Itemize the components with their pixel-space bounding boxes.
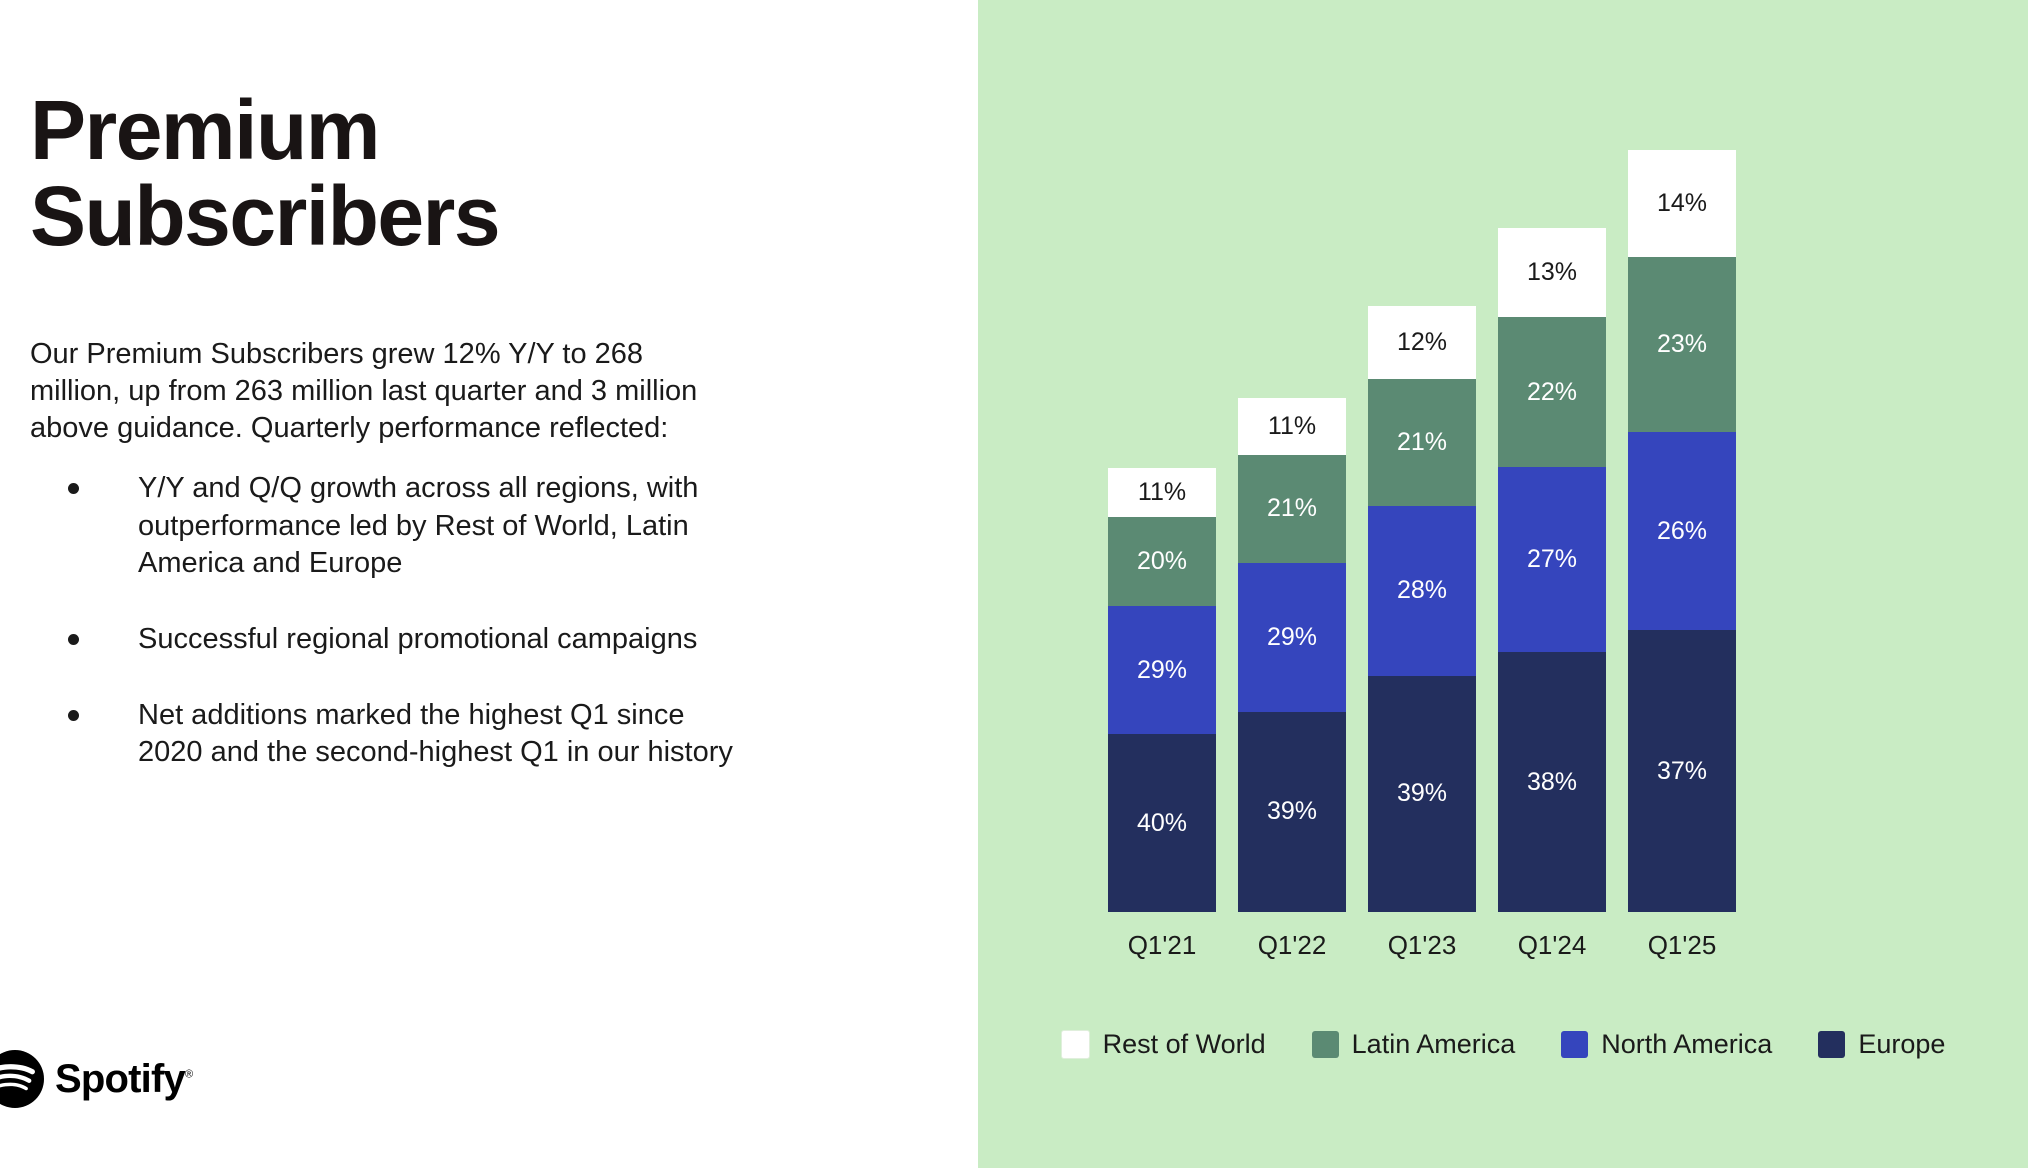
bar-segment-europe[interactable]: 39% bbox=[1238, 712, 1346, 912]
legend-swatch-icon bbox=[1061, 1030, 1090, 1059]
bar-segment-value-label: 11% bbox=[1138, 478, 1186, 507]
chart-legend: Rest of WorldLatin AmericaNorth AmericaE… bbox=[978, 1029, 2028, 1060]
bar-segment-latin-america[interactable]: 21% bbox=[1238, 455, 1346, 563]
legend-item-label: Latin America bbox=[1352, 1029, 1516, 1060]
legend-item-label: Europe bbox=[1858, 1029, 1945, 1060]
bar-segment-value-label: 27% bbox=[1527, 545, 1577, 574]
bar-segment-value-label: 40% bbox=[1137, 809, 1187, 838]
bar-segment-north-america[interactable]: 29% bbox=[1238, 563, 1346, 712]
intro-paragraph: Our Premium Subscribers grew 12% Y/Y to … bbox=[30, 336, 720, 447]
x-axis-tick-label: Q1'23 bbox=[1388, 930, 1457, 961]
page-title: Premium Subscribers bbox=[30, 88, 730, 259]
bar-segment-value-label: 39% bbox=[1267, 797, 1317, 826]
bar-group-Q122[interactable]: 11%21%29%39%Q1'22 bbox=[1238, 398, 1346, 912]
bar-segment-rest-of-world[interactable]: 11% bbox=[1108, 468, 1216, 517]
bar-segment-value-label: 29% bbox=[1267, 623, 1317, 652]
bar-segment-north-america[interactable]: 29% bbox=[1108, 606, 1216, 735]
bar-segment-latin-america[interactable]: 21% bbox=[1368, 379, 1476, 506]
left-content-panel: Premium Subscribers Our Premium Subscrib… bbox=[0, 0, 978, 1168]
spotify-wordmark: Spotify® bbox=[55, 1057, 193, 1102]
x-axis-tick-label: Q1'25 bbox=[1648, 930, 1717, 961]
list-item: Y/Y and Q/Q growth across all regions, w… bbox=[30, 470, 750, 583]
bar-segment-europe[interactable]: 39% bbox=[1368, 676, 1476, 912]
bar-segment-europe[interactable]: 38% bbox=[1498, 652, 1606, 912]
bar-segment-latin-america[interactable]: 20% bbox=[1108, 517, 1216, 606]
bar-segment-europe[interactable]: 40% bbox=[1108, 734, 1216, 912]
bar-segment-value-label: 29% bbox=[1137, 656, 1187, 685]
bar-segment-value-label: 26% bbox=[1657, 517, 1707, 546]
bar-group-Q121[interactable]: 11%20%29%40%Q1'21 bbox=[1108, 468, 1216, 912]
bar-segment-value-label: 22% bbox=[1527, 378, 1577, 407]
x-axis-tick-label: Q1'21 bbox=[1128, 930, 1197, 961]
bar-segment-value-label: 28% bbox=[1397, 576, 1447, 605]
bar-segment-rest-of-world[interactable]: 13% bbox=[1498, 228, 1606, 317]
bullet-dot-icon bbox=[68, 634, 79, 645]
spotify-logo: Spotify® bbox=[0, 1050, 193, 1108]
legend-swatch-icon bbox=[1561, 1031, 1588, 1058]
list-item-label: Successful regional promotional campaign… bbox=[138, 623, 697, 655]
bar-group-Q125[interactable]: 14%23%26%37%Q1'25 bbox=[1628, 150, 1736, 912]
bar-segment-north-america[interactable]: 27% bbox=[1498, 467, 1606, 652]
bar-segment-value-label: 12% bbox=[1397, 328, 1447, 357]
legend-item-label: Rest of World bbox=[1103, 1029, 1266, 1060]
bar-segment-value-label: 13% bbox=[1527, 258, 1577, 287]
bar-segment-latin-america[interactable]: 22% bbox=[1498, 317, 1606, 467]
legend-swatch-icon bbox=[1312, 1031, 1339, 1058]
bar-segment-value-label: 23% bbox=[1657, 330, 1707, 359]
legend-item-rest-of-world[interactable]: Rest of World bbox=[1061, 1029, 1266, 1060]
bar-segment-rest-of-world[interactable]: 11% bbox=[1238, 398, 1346, 455]
list-item: Successful regional promotional campaign… bbox=[30, 621, 750, 659]
bar-segment-value-label: 21% bbox=[1267, 494, 1317, 523]
bar-segment-value-label: 37% bbox=[1657, 757, 1707, 786]
x-axis-tick-label: Q1'22 bbox=[1258, 930, 1327, 961]
bar-group-Q123[interactable]: 12%21%28%39%Q1'23 bbox=[1368, 306, 1476, 912]
bar-segment-europe[interactable]: 37% bbox=[1628, 630, 1736, 912]
bar-segment-rest-of-world[interactable]: 14% bbox=[1628, 150, 1736, 257]
bar-segment-north-america[interactable]: 28% bbox=[1368, 506, 1476, 676]
legend-item-europe[interactable]: Europe bbox=[1818, 1029, 1945, 1060]
list-item-label: Net additions marked the highest Q1 sinc… bbox=[138, 699, 733, 769]
spotify-wordmark-text: Spotify bbox=[55, 1057, 185, 1101]
bullet-list: Y/Y and Q/Q growth across all regions, w… bbox=[30, 470, 750, 772]
chart-panel: 11%20%29%40%Q1'2111%21%29%39%Q1'2212%21%… bbox=[978, 0, 2028, 1168]
bar-segment-value-label: 11% bbox=[1268, 412, 1316, 441]
bar-segment-rest-of-world[interactable]: 12% bbox=[1368, 306, 1476, 379]
legend-item-north-america[interactable]: North America bbox=[1561, 1029, 1772, 1060]
bar-segment-latin-america[interactable]: 23% bbox=[1628, 257, 1736, 432]
slide-canvas: Premium Subscribers Our Premium Subscrib… bbox=[0, 0, 2028, 1168]
x-axis-tick-label: Q1'24 bbox=[1518, 930, 1587, 961]
spotify-logo-icon bbox=[0, 1050, 44, 1108]
bullet-dot-icon bbox=[68, 710, 79, 721]
bullet-dot-icon bbox=[68, 483, 79, 494]
bar-segment-value-label: 20% bbox=[1137, 547, 1187, 576]
bar-segment-value-label: 39% bbox=[1397, 779, 1447, 808]
bar-segment-value-label: 21% bbox=[1397, 428, 1447, 457]
bar-segment-value-label: 38% bbox=[1527, 768, 1577, 797]
bar-segment-value-label: 14% bbox=[1657, 189, 1707, 218]
legend-item-label: North America bbox=[1601, 1029, 1772, 1060]
list-item-label: Y/Y and Q/Q growth across all regions, w… bbox=[138, 472, 698, 579]
bar-group-Q124[interactable]: 13%22%27%38%Q1'24 bbox=[1498, 228, 1606, 912]
legend-item-latin-america[interactable]: Latin America bbox=[1312, 1029, 1516, 1060]
legend-swatch-icon bbox=[1818, 1031, 1845, 1058]
stacked-bar-chart: 11%20%29%40%Q1'2111%21%29%39%Q1'2212%21%… bbox=[978, 0, 2028, 1168]
list-item: Net additions marked the highest Q1 sinc… bbox=[30, 697, 750, 772]
bar-segment-north-america[interactable]: 26% bbox=[1628, 432, 1736, 630]
trademark-symbol: ® bbox=[185, 1068, 193, 1080]
